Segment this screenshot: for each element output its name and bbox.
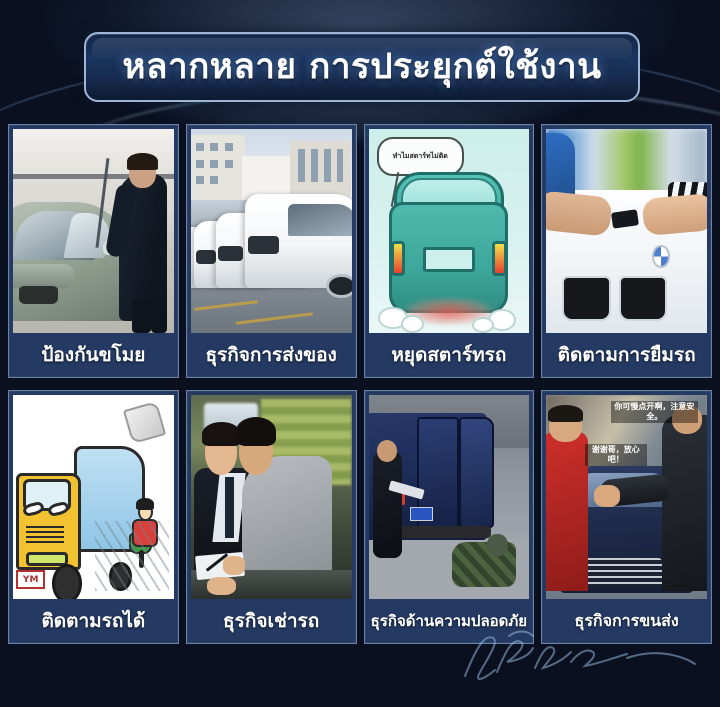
illustration-cartoon-truck: YM [13, 395, 174, 599]
application-grid: ป้องกันขโมย [8, 124, 712, 644]
card-caption-anti-theft: ป้องกันขโมย [13, 333, 174, 377]
illustration-contract-signing [191, 395, 352, 599]
speech-bubble: ทำไมสตาร์ทไม่ติด [377, 137, 465, 176]
thumbnail-car-rental-business [191, 395, 352, 599]
card-car-rental-business[interactable]: ธุรกิจเช่ารถ [186, 390, 357, 644]
car-brand-badge [652, 245, 670, 267]
card-anti-theft[interactable]: ป้องกันขโมย [8, 124, 179, 378]
card-caption-car-rental-business: ธุรกิจเช่ารถ [191, 599, 352, 643]
card-caption-delivery-business: ธุรกิจการส่งของ [191, 333, 352, 377]
card-caption-borrowed-car-tracking: ติดตามการยืมรถ [546, 333, 707, 377]
illustration-suv-fleet [191, 129, 352, 333]
illustration-security-van [369, 395, 530, 599]
header-banner: หลากหลาย การประยุกต์ใช้งาน [84, 32, 640, 102]
illustration-car-break-in [13, 129, 174, 333]
video-subtitle-top: 你可慢点开啊，注意安全。 [611, 401, 699, 423]
car-key-fob [611, 209, 639, 229]
card-security-business[interactable]: ธุรกิจด้านความปลอดภัย [364, 390, 535, 644]
illustration-key-handoff-bmw [546, 129, 707, 333]
thumbnail-borrowed-car-tracking [546, 129, 707, 333]
illustration-key-exchange-blue-car: 你可慢点开啊，注意安全。 谢谢哥，放心吧！ [546, 395, 707, 599]
video-subtitle-bottom: 谢谢哥，放心吧！ [585, 444, 647, 466]
card-caption-remote-engine-stop: หยุดสตาร์ทรถ [369, 333, 530, 377]
card-transport-business[interactable]: 你可慢点开啊，注意安全。 谢谢哥，放心吧！ ธุรกิจการขนส่ง [541, 390, 712, 644]
card-caption-transport-business: ธุรกิจการขนส่ง [546, 599, 707, 643]
thumbnail-transport-business: 你可慢点开啊，注意安全。 谢谢哥，放心吧！ [546, 395, 707, 599]
illustration-cartoon-car-rear: ทำไมสตาร์ทไม่ติด [369, 129, 530, 333]
promo-poster: หลากหลาย การประยุกต์ใช้งาน ป้อง [0, 0, 720, 707]
card-caption-security-business: ธุรกิจด้านความปลอดภัย [369, 599, 530, 643]
speech-bubble-text: ทำไมสตาร์ทไม่ติด [393, 151, 448, 162]
card-vehicle-tracking[interactable]: YM ติดตามรถได้ [8, 390, 179, 644]
card-borrowed-car-tracking[interactable]: ติดตามการยืมรถ [541, 124, 712, 378]
card-remote-engine-stop[interactable]: ทำไมสตาร์ทไม่ติด หยุดสตาร์ทรถ [364, 124, 535, 378]
truck-plate-text: YM [16, 570, 45, 588]
thumbnail-vehicle-tracking: YM [13, 395, 174, 599]
page-title: หลากหลาย การประยุกต์ใช้งาน [122, 50, 601, 85]
thumbnail-delivery-business [191, 129, 352, 333]
card-caption-vehicle-tracking: ติดตามรถได้ [13, 599, 174, 643]
card-delivery-business[interactable]: ธุรกิจการส่งของ [186, 124, 357, 378]
thumbnail-anti-theft [13, 129, 174, 333]
thumbnail-security-business [369, 395, 530, 599]
thumbnail-remote-engine-stop: ทำไมสตาร์ทไม่ติด [369, 129, 530, 333]
